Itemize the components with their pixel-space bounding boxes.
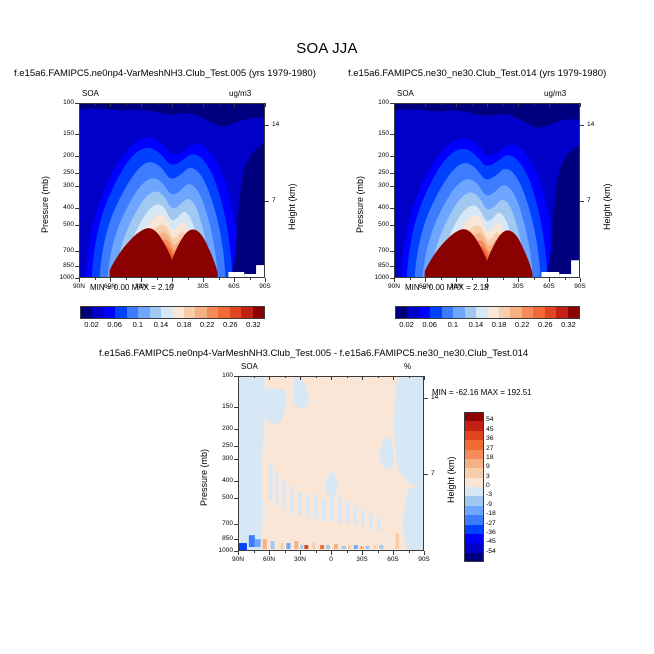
height-tick xyxy=(424,398,428,399)
latitude-minor-tick xyxy=(534,278,535,280)
height-tick xyxy=(265,201,269,202)
diff-contour-plot[interactable] xyxy=(238,376,424,551)
pressure-tick-label: 200 xyxy=(208,425,233,432)
pressure-tick xyxy=(390,225,394,226)
latitude-minor-tick xyxy=(316,551,317,553)
latitude-minor-tick xyxy=(441,103,442,105)
diff-contour-field xyxy=(239,377,423,550)
panel-title-diff: f.e15a6.FAMIPC5.ne0np4-VarMeshNH3.Club_T… xyxy=(99,348,528,359)
colorbar-cell xyxy=(510,307,521,318)
colorbar-cell xyxy=(556,307,567,318)
left-contour-plot[interactable] xyxy=(79,103,265,278)
latitude-minor-tick xyxy=(409,551,410,553)
latitude-tick xyxy=(234,103,235,107)
pressure-tick xyxy=(234,407,238,408)
panel-title-left: f.e15a6.FAMIPC5.ne0np4-VarMeshNH3.Club_T… xyxy=(14,68,316,79)
colorbar-tick-label: 0.02 xyxy=(394,320,420,329)
pressure-tick xyxy=(75,208,79,209)
colorbar-cell xyxy=(430,307,441,318)
colorbar-cell xyxy=(115,307,126,318)
latitude-minor-tick xyxy=(285,551,286,553)
latitude-tick xyxy=(424,551,425,555)
pressure-tick xyxy=(75,156,79,157)
latitude-tick xyxy=(238,376,239,380)
pressure-tick xyxy=(390,186,394,187)
pressure-tick-label: 850 xyxy=(208,535,233,542)
latitude-tick xyxy=(300,376,301,380)
colorbar-cell xyxy=(127,307,138,318)
latitude-minor-tick xyxy=(410,103,411,105)
latitude-minor-tick xyxy=(254,551,255,553)
latitude-tick-label: 60N xyxy=(257,556,281,563)
pressure-tick xyxy=(234,429,238,430)
pressure-tick-label: 300 xyxy=(49,182,74,189)
latitude-tick xyxy=(518,103,519,107)
latitude-tick-label: 60S xyxy=(222,283,246,290)
diff-y2-axis-label: Height (km) xyxy=(446,456,456,503)
diff-minmax: MIN = -62.16 MAX = 192.51 xyxy=(432,388,532,397)
colorbar-tick-label: 0.02 xyxy=(79,320,105,329)
pressure-tick xyxy=(234,524,238,525)
pressure-tick-label: 150 xyxy=(364,130,389,137)
latitude-tick xyxy=(238,551,239,555)
latitude-minor-tick xyxy=(472,103,473,105)
colorbar-diff[interactable]: 5445362718930-3-9-18-27-36-45-54 xyxy=(464,412,484,562)
pressure-tick-label: 1000 xyxy=(49,274,74,281)
right-var-label: SOA xyxy=(397,89,414,98)
latitude-minor-tick xyxy=(126,103,127,105)
colorbar-tick-label: 3 xyxy=(486,474,490,481)
latitude-minor-tick xyxy=(316,376,317,378)
latitude-minor-tick xyxy=(503,278,504,280)
colorbar-cell xyxy=(499,307,510,318)
pressure-tick-label: 100 xyxy=(208,372,233,379)
latitude-tick-label: 90S xyxy=(253,283,277,290)
page-title: SOA JJA xyxy=(0,40,654,57)
right-contour-plot[interactable] xyxy=(394,103,580,278)
latitude-tick xyxy=(394,278,395,282)
height-tick-label: 14 xyxy=(587,121,594,128)
latitude-tick xyxy=(580,103,581,107)
latitude-tick xyxy=(394,103,395,107)
latitude-tick xyxy=(141,278,142,282)
height-tick-label: 7 xyxy=(431,470,435,477)
colorbar-tick-label: -3 xyxy=(486,492,492,499)
latitude-tick xyxy=(580,278,581,282)
colorbar-cell xyxy=(218,307,229,318)
latitude-tick-label: 30S xyxy=(350,556,374,563)
pressure-tick-label: 700 xyxy=(208,520,233,527)
latitude-tick-label: 60S xyxy=(537,283,561,290)
colorbar-tick-label: 0.1 xyxy=(125,320,151,329)
colorbar-cell xyxy=(465,307,476,318)
colorbar-cell xyxy=(568,307,579,318)
colorbar-tick-label: 0.32 xyxy=(240,320,266,329)
colorbar-tick-label: 0.06 xyxy=(102,320,128,329)
latitude-tick xyxy=(549,103,550,107)
latitude-tick-label: 30N xyxy=(129,283,153,290)
colorbar-tick-label: 27 xyxy=(486,446,494,453)
latitude-tick xyxy=(79,103,80,107)
pressure-tick xyxy=(75,225,79,226)
colorbar-left-labels: 0.020.060.10.140.180.220.260.32 xyxy=(80,320,265,332)
height-tick-label: 7 xyxy=(587,197,591,204)
latitude-tick xyxy=(456,103,457,107)
pressure-tick-label: 400 xyxy=(208,477,233,484)
colorbar-tick-label: 18 xyxy=(486,455,494,462)
latitude-tick xyxy=(331,551,332,555)
latitude-tick xyxy=(549,278,550,282)
colorbar-tick-label: 0.14 xyxy=(148,320,174,329)
pressure-tick xyxy=(234,481,238,482)
height-tick xyxy=(580,201,584,202)
latitude-tick xyxy=(269,551,270,555)
colorbar-tick-label: 0.18 xyxy=(486,320,512,329)
colorbar-cell xyxy=(161,307,172,318)
colorbar-cell xyxy=(184,307,195,318)
latitude-tick-label: 30S xyxy=(506,283,530,290)
latitude-tick xyxy=(79,278,80,282)
height-tick-label: 14 xyxy=(272,121,279,128)
colorbar-cell xyxy=(407,307,418,318)
colorbar-tick-label: -9 xyxy=(486,502,492,509)
colorbar-right-labels: 0.020.060.10.140.180.220.260.32 xyxy=(395,320,580,332)
pressure-tick xyxy=(390,266,394,267)
latitude-tick xyxy=(393,376,394,380)
colorbar-tick-label: 0.26 xyxy=(217,320,243,329)
latitude-tick xyxy=(331,376,332,380)
colorbar-cell xyxy=(545,307,556,318)
latitude-tick xyxy=(518,278,519,282)
height-tick xyxy=(265,125,269,126)
pressure-tick-label: 300 xyxy=(364,182,389,189)
colorbar-tick-label: 0.22 xyxy=(509,320,535,329)
pressure-tick xyxy=(75,251,79,252)
latitude-minor-tick xyxy=(378,376,379,378)
latitude-tick-label: 90S xyxy=(568,283,592,290)
pressure-tick xyxy=(234,539,238,540)
latitude-tick xyxy=(110,103,111,107)
latitude-minor-tick xyxy=(347,551,348,553)
pressure-tick-label: 100 xyxy=(49,99,74,106)
latitude-minor-tick xyxy=(409,376,410,378)
latitude-tick xyxy=(265,278,266,282)
colorbar-cell xyxy=(253,307,264,318)
colorbar-cell xyxy=(81,307,92,318)
latitude-minor-tick xyxy=(410,278,411,280)
latitude-tick-label: 30N xyxy=(444,283,468,290)
pressure-tick xyxy=(390,173,394,174)
left-y2-axis-label: Height (km) xyxy=(287,183,297,230)
latitude-tick-label: 30N xyxy=(288,556,312,563)
latitude-minor-tick xyxy=(95,278,96,280)
pressure-tick-label: 1000 xyxy=(208,547,233,554)
latitude-tick xyxy=(456,278,457,282)
colorbar-cell xyxy=(522,307,533,318)
latitude-tick xyxy=(172,278,173,282)
latitude-minor-tick xyxy=(126,278,127,280)
pressure-tick xyxy=(75,173,79,174)
latitude-tick xyxy=(425,103,426,107)
colorbar-tick-label: 54 xyxy=(486,417,494,424)
latitude-minor-tick xyxy=(503,103,504,105)
latitude-tick-label: 30S xyxy=(191,283,215,290)
pressure-tick xyxy=(390,156,394,157)
latitude-minor-tick xyxy=(250,278,251,280)
height-tick-label: 7 xyxy=(272,197,276,204)
latitude-tick xyxy=(424,376,425,380)
pressure-tick-label: 400 xyxy=(364,204,389,211)
latitude-tick xyxy=(269,376,270,380)
diff-var-label: SOA xyxy=(241,362,258,371)
latitude-minor-tick xyxy=(157,278,158,280)
latitude-tick-label: 90N xyxy=(67,283,91,290)
diff-units-label: % xyxy=(404,362,411,371)
latitude-tick xyxy=(203,278,204,282)
pressure-tick xyxy=(390,134,394,135)
latitude-minor-tick xyxy=(441,278,442,280)
colorbar-cell xyxy=(442,307,453,318)
colorbar-cell xyxy=(92,307,103,318)
colorbar-cell xyxy=(207,307,218,318)
latitude-tick xyxy=(141,103,142,107)
colorbar-cell xyxy=(241,307,252,318)
height-tick xyxy=(424,474,428,475)
colorbar-tick-label: 0.06 xyxy=(417,320,443,329)
pressure-tick xyxy=(390,251,394,252)
latitude-minor-tick xyxy=(95,103,96,105)
right-contour-field xyxy=(395,104,579,277)
latitude-minor-tick xyxy=(534,103,535,105)
colorbar-cell xyxy=(195,307,206,318)
latitude-tick xyxy=(203,103,204,107)
latitude-tick xyxy=(362,551,363,555)
colorbar-border xyxy=(464,412,484,562)
colorbar-tick-label: 0 xyxy=(486,483,490,490)
panel-title-right: f.e15a6.FAMIPC5.ne30_ne30.Club_Test.014 … xyxy=(348,68,606,79)
latitude-tick xyxy=(265,103,266,107)
pressure-tick-label: 200 xyxy=(49,152,74,159)
pressure-tick-label: 250 xyxy=(208,442,233,449)
latitude-tick-label: 60N xyxy=(413,283,437,290)
pressure-tick-label: 1000 xyxy=(364,274,389,281)
latitude-tick xyxy=(425,278,426,282)
pressure-tick xyxy=(390,208,394,209)
pressure-tick-label: 250 xyxy=(364,169,389,176)
pressure-tick xyxy=(234,498,238,499)
left-units-label: ug/m3 xyxy=(229,89,251,98)
pressure-tick-label: 300 xyxy=(208,455,233,462)
pressure-tick-label: 850 xyxy=(49,262,74,269)
pressure-tick xyxy=(75,134,79,135)
colorbar-cell xyxy=(230,307,241,318)
latitude-tick-label: 60S xyxy=(381,556,405,563)
latitude-minor-tick xyxy=(285,376,286,378)
colorbar-tick-label: 0.22 xyxy=(194,320,220,329)
latitude-minor-tick xyxy=(188,278,189,280)
colorbar-tick-label: 45 xyxy=(486,427,494,434)
pressure-tick-label: 100 xyxy=(364,99,389,106)
colorbar-tick-label: -36 xyxy=(486,530,496,537)
colorbar-tick-label: 0.32 xyxy=(555,320,581,329)
pressure-tick-label: 700 xyxy=(364,247,389,254)
colorbar-cell xyxy=(173,307,184,318)
colorbar-tick-label: -54 xyxy=(486,549,496,556)
latitude-minor-tick xyxy=(347,376,348,378)
pressure-tick-label: 400 xyxy=(49,204,74,211)
latitude-minor-tick xyxy=(157,103,158,105)
pressure-tick-label: 250 xyxy=(49,169,74,176)
colorbar-cell xyxy=(453,307,464,318)
colorbar-cell xyxy=(138,307,149,318)
colorbar-tick-label: -27 xyxy=(486,521,496,528)
latitude-minor-tick xyxy=(250,103,251,105)
colorbar-cell xyxy=(419,307,430,318)
latitude-tick-label: 90N xyxy=(382,283,406,290)
pressure-tick xyxy=(75,266,79,267)
height-tick xyxy=(580,125,584,126)
latitude-tick-label: 60N xyxy=(98,283,122,290)
colorbar-tick-label: 0.14 xyxy=(463,320,489,329)
colorbar-tick-label: 0.1 xyxy=(440,320,466,329)
colorbar-tick-label: 0.26 xyxy=(532,320,558,329)
latitude-minor-tick xyxy=(219,278,220,280)
pressure-tick-label: 850 xyxy=(364,262,389,269)
pressure-tick xyxy=(75,186,79,187)
colorbar-tick-label: -45 xyxy=(486,539,496,546)
latitude-tick xyxy=(172,103,173,107)
colorbar-cell xyxy=(104,307,115,318)
latitude-tick xyxy=(487,103,488,107)
colorbar-tick-label: -18 xyxy=(486,511,496,518)
right-y2-axis-label: Height (km) xyxy=(602,183,612,230)
colorbar-right[interactable] xyxy=(395,306,580,319)
latitude-tick xyxy=(234,278,235,282)
latitude-minor-tick xyxy=(472,278,473,280)
latitude-minor-tick xyxy=(254,376,255,378)
latitude-tick-label: 90N xyxy=(226,556,250,563)
latitude-tick-label: 0 xyxy=(160,283,184,290)
latitude-minor-tick xyxy=(565,103,566,105)
pressure-tick-label: 500 xyxy=(49,221,74,228)
pressure-tick xyxy=(234,446,238,447)
colorbar-cell xyxy=(396,307,407,318)
left-var-label: SOA xyxy=(82,89,99,98)
colorbar-tick-label: 36 xyxy=(486,436,494,443)
pressure-tick-label: 500 xyxy=(208,494,233,501)
right-units-label: ug/m3 xyxy=(544,89,566,98)
colorbar-tick-label: 9 xyxy=(486,464,490,471)
latitude-tick xyxy=(487,278,488,282)
pressure-tick-label: 500 xyxy=(364,221,389,228)
latitude-tick xyxy=(300,551,301,555)
colorbar-cell xyxy=(488,307,499,318)
colorbar-tick-label: 0.18 xyxy=(171,320,197,329)
latitude-tick xyxy=(362,376,363,380)
latitude-tick xyxy=(393,551,394,555)
colorbar-cell xyxy=(150,307,161,318)
latitude-minor-tick xyxy=(219,103,220,105)
colorbar-left[interactable] xyxy=(80,306,265,319)
height-tick-label: 14 xyxy=(431,394,438,401)
latitude-minor-tick xyxy=(565,278,566,280)
colorbar-cell xyxy=(533,307,544,318)
latitude-tick xyxy=(110,278,111,282)
colorbar-cell xyxy=(476,307,487,318)
left-contour-field xyxy=(80,104,264,277)
latitude-minor-tick xyxy=(378,551,379,553)
latitude-tick-label: 0 xyxy=(319,556,343,563)
pressure-tick-label: 700 xyxy=(49,247,74,254)
pressure-tick-label: 200 xyxy=(364,152,389,159)
pressure-tick xyxy=(234,459,238,460)
pressure-tick-label: 150 xyxy=(208,403,233,410)
latitude-minor-tick xyxy=(188,103,189,105)
pressure-tick-label: 150 xyxy=(49,130,74,137)
latitude-tick-label: 0 xyxy=(475,283,499,290)
latitude-tick-label: 90S xyxy=(412,556,436,563)
